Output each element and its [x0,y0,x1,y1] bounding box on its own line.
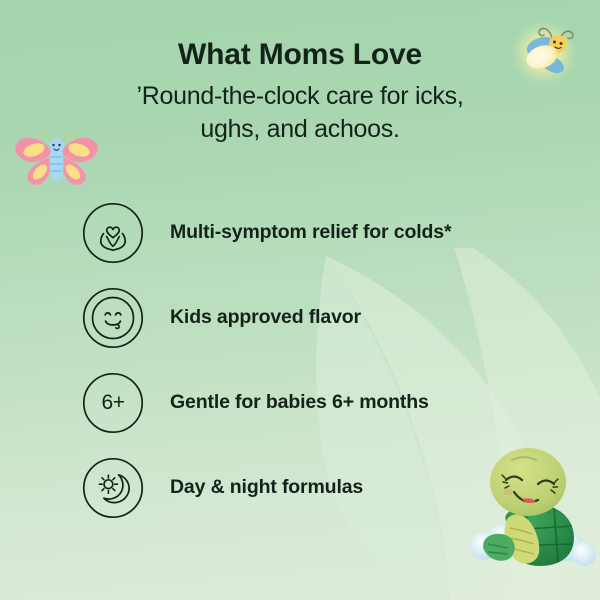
feature-item-day-night-formulas: Day & night formulas [82,445,562,530]
promo-graphic: What Moms Love ’Round-the-clock care for… [0,0,600,600]
age-six-plus-icon: 6+ [82,372,144,434]
subtitle-line-1: ’Round-the-clock care for icks, [137,82,464,110]
feature-label: Multi-symptom relief for colds* [170,221,451,244]
hands-holding-heart-icon [82,202,144,264]
smiley-face-tongue-icon [82,287,144,349]
feature-list: Multi-symptom relief for colds* Kids app… [82,190,562,530]
feature-label: Kids approved flavor [170,306,361,329]
subtitle-line-2: ughs, and achoos. [200,115,399,143]
sun-moon-icon [82,457,144,519]
feature-item-gentle-for-babies: 6+ Gentle for babies 6+ months [82,360,562,445]
page-title: What Moms Love [0,36,600,74]
feature-label: Gentle for babies 6+ months [170,391,429,414]
header-block: What Moms Love ’Round-the-clock care for… [0,36,600,146]
feature-item-multi-symptom-relief: Multi-symptom relief for colds* [82,190,562,275]
feature-label: Day & night formulas [170,476,363,499]
feature-item-kids-approved-flavor: Kids approved flavor [82,275,562,360]
page-subtitle: ’Round-the-clock care for icks, ughs, an… [0,80,600,146]
age-six-plus-label: 6+ [82,372,144,434]
